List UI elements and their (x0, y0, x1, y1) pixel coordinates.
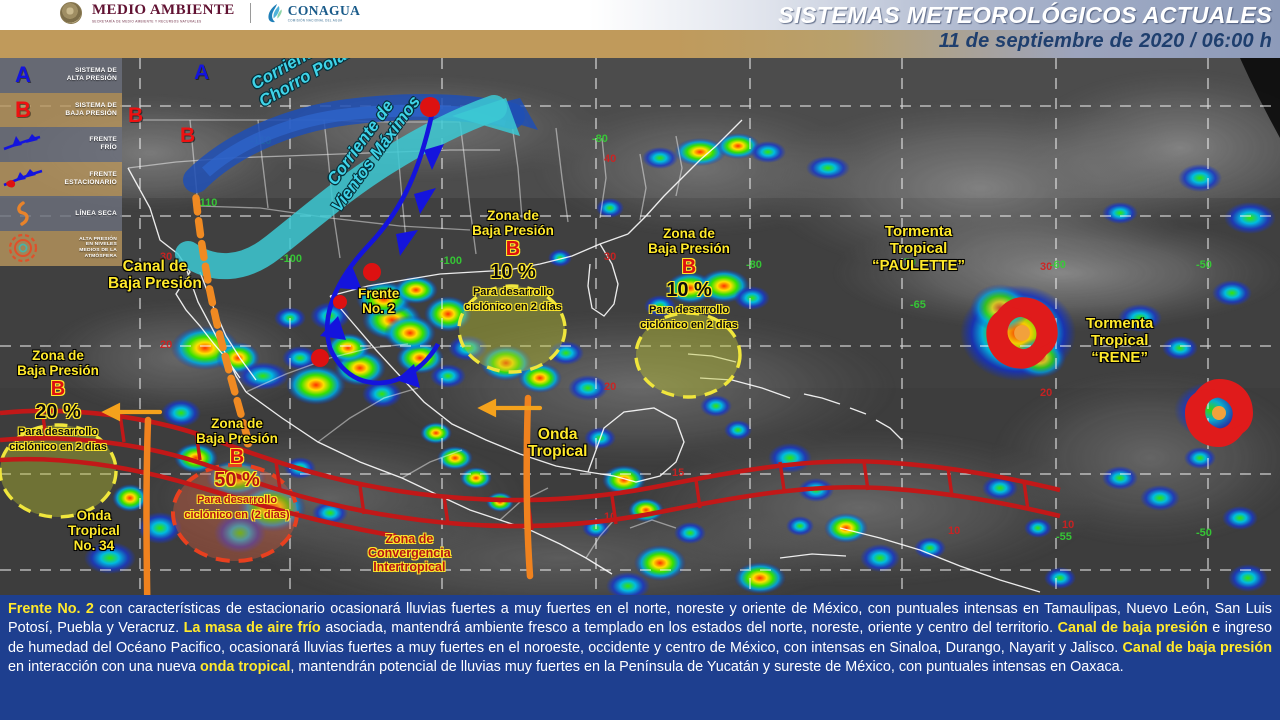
svg-text:-50: -50 (1196, 527, 1212, 539)
low-pressure-zone-pacific-east: Zona deBaja Presión B 50 % Para desarrol… (172, 416, 302, 522)
legend-label-high-pressure: SISTEMA DEALTA PRESIÓN (46, 67, 122, 83)
weather-bulletin-page: MEDIO AMBIENTE SECRETARÍA DE MEDIO AMBIE… (0, 0, 1280, 720)
svg-text:40: 40 (604, 153, 616, 165)
mid-level-high-pressure-icon (0, 231, 46, 266)
legend-label-mid-level-high: ALTA PRESIÓNEN NIVELESMEDIOS DE LAATMÓSF… (46, 237, 122, 261)
svg-text:-80: -80 (746, 259, 762, 271)
agency-logos: MEDIO AMBIENTE SECRETARÍA DE MEDIO AMBIE… (60, 2, 360, 24)
legend-label-low-pressure: SISTEMA DEBAJA PRESIÓN (46, 102, 122, 118)
svg-text:-60: -60 (1050, 259, 1066, 271)
svg-text:10: 10 (1062, 519, 1074, 531)
forecast-paragraph: Frente No. 2 con características de esta… (8, 600, 1272, 678)
forecast-summary-text: Frente No. 2 con características de esta… (0, 595, 1280, 720)
conagua-logo: CONAGUA COMISIÓN NACIONAL DEL AGUA (266, 3, 361, 23)
tropical-storm-rene: TormentaTropical“RENE” (1086, 316, 1153, 366)
bulletin-date: 11 de septiembre de 2020 / 06:00 h (939, 30, 1272, 53)
medio-ambiente-subtitle: SECRETARÍA DE MEDIO AMBIENTE Y RECURSOS … (92, 20, 235, 24)
svg-text:-65: -65 (910, 299, 926, 311)
legend-item-high-pressure: A SISTEMA DEALTA PRESIÓN (0, 58, 122, 93)
government-seal-icon (60, 2, 82, 24)
svg-text:30: 30 (604, 251, 616, 263)
svg-text:15: 15 (672, 467, 684, 479)
svg-text:20: 20 (604, 381, 616, 393)
svg-text:-50: -50 (1196, 259, 1212, 271)
tropical-wave-34-label: OndaTropicalNo. 34 (68, 508, 120, 553)
legend-label-stationary-front: FRENTEESTACIONARIO (46, 171, 122, 187)
legend-label-cold-front: FRENTEFRÍO (46, 136, 122, 152)
itcz-label: Zona deConvergenciaIntertropical (368, 532, 451, 574)
low-pressure-mark-b-2: B (180, 124, 195, 148)
tropical-wave-34-line (147, 420, 149, 595)
logo-divider (250, 3, 251, 23)
legend-item-cold-front: FRENTEFRÍO (0, 127, 122, 162)
svg-text:-55: -55 (1056, 531, 1072, 543)
legend-item-dry-line: LÍNEA SECA (0, 196, 122, 231)
dry-line-icon (0, 196, 46, 231)
stationary-front-icon (0, 162, 46, 197)
cold-front-icon (0, 127, 46, 162)
low-pressure-channel-label: Canal deBaja Presión (108, 258, 202, 293)
tropical-wave-label: OndaTropical (528, 426, 587, 461)
letter-b-icon: B (0, 93, 46, 128)
tropical-storm-paulette: TormentaTropical“PAULETTE” (872, 224, 965, 274)
low-pressure-zone-pacific-west: Zona deBaja Presión B 20 % Para desarrol… (0, 348, 120, 454)
medio-ambiente-logo: MEDIO AMBIENTE SECRETARÍA DE MEDIO AMBIE… (92, 3, 235, 23)
low-pressure-zone-gulf: Zona deBaja Presión B 10 % Para desarrol… (455, 208, 571, 314)
legend-label-dry-line: LÍNEA SECA (46, 210, 122, 218)
legend-item-stationary-front: FRENTEESTACIONARIO (0, 162, 122, 197)
legend-item-mid-level-high: ALTA PRESIÓNEN NIVELESMEDIOS DE LAATMÓSF… (0, 231, 122, 266)
page-title: SISTEMAS METEOROLÓGICOS ACTUALES (778, 2, 1272, 29)
tropical-wave-line (527, 398, 530, 576)
conagua-water-icon (266, 3, 284, 23)
low-pressure-mark-b-1: B (128, 104, 143, 128)
high-pressure-mark-a: A (194, 61, 209, 85)
conagua-subtitle: COMISIÓN NACIONAL DEL AGUA (288, 19, 361, 23)
front-no2-label: FrenteNo. 2 (358, 286, 399, 316)
letter-a-icon: A (0, 58, 46, 93)
low-pressure-zone-atlantic: Zona deBaja Presión B 10 % Para desarrol… (630, 226, 748, 332)
medio-ambiente-title: MEDIO AMBIENTE (92, 3, 235, 18)
satellite-map: 4030 2010 3020 3020 10 10 15 -110-100 -1… (0, 58, 1280, 595)
svg-text:20: 20 (160, 339, 172, 351)
legend-item-low-pressure: B SISTEMA DEBAJA PRESIÓN (0, 93, 122, 128)
svg-text:-80: -80 (592, 133, 608, 145)
svg-text:20: 20 (1040, 387, 1052, 399)
map-legend: A SISTEMA DEALTA PRESIÓN B SISTEMA DEBAJ… (0, 58, 122, 266)
svg-text:10: 10 (948, 525, 960, 537)
conagua-title: CONAGUA (288, 4, 361, 18)
